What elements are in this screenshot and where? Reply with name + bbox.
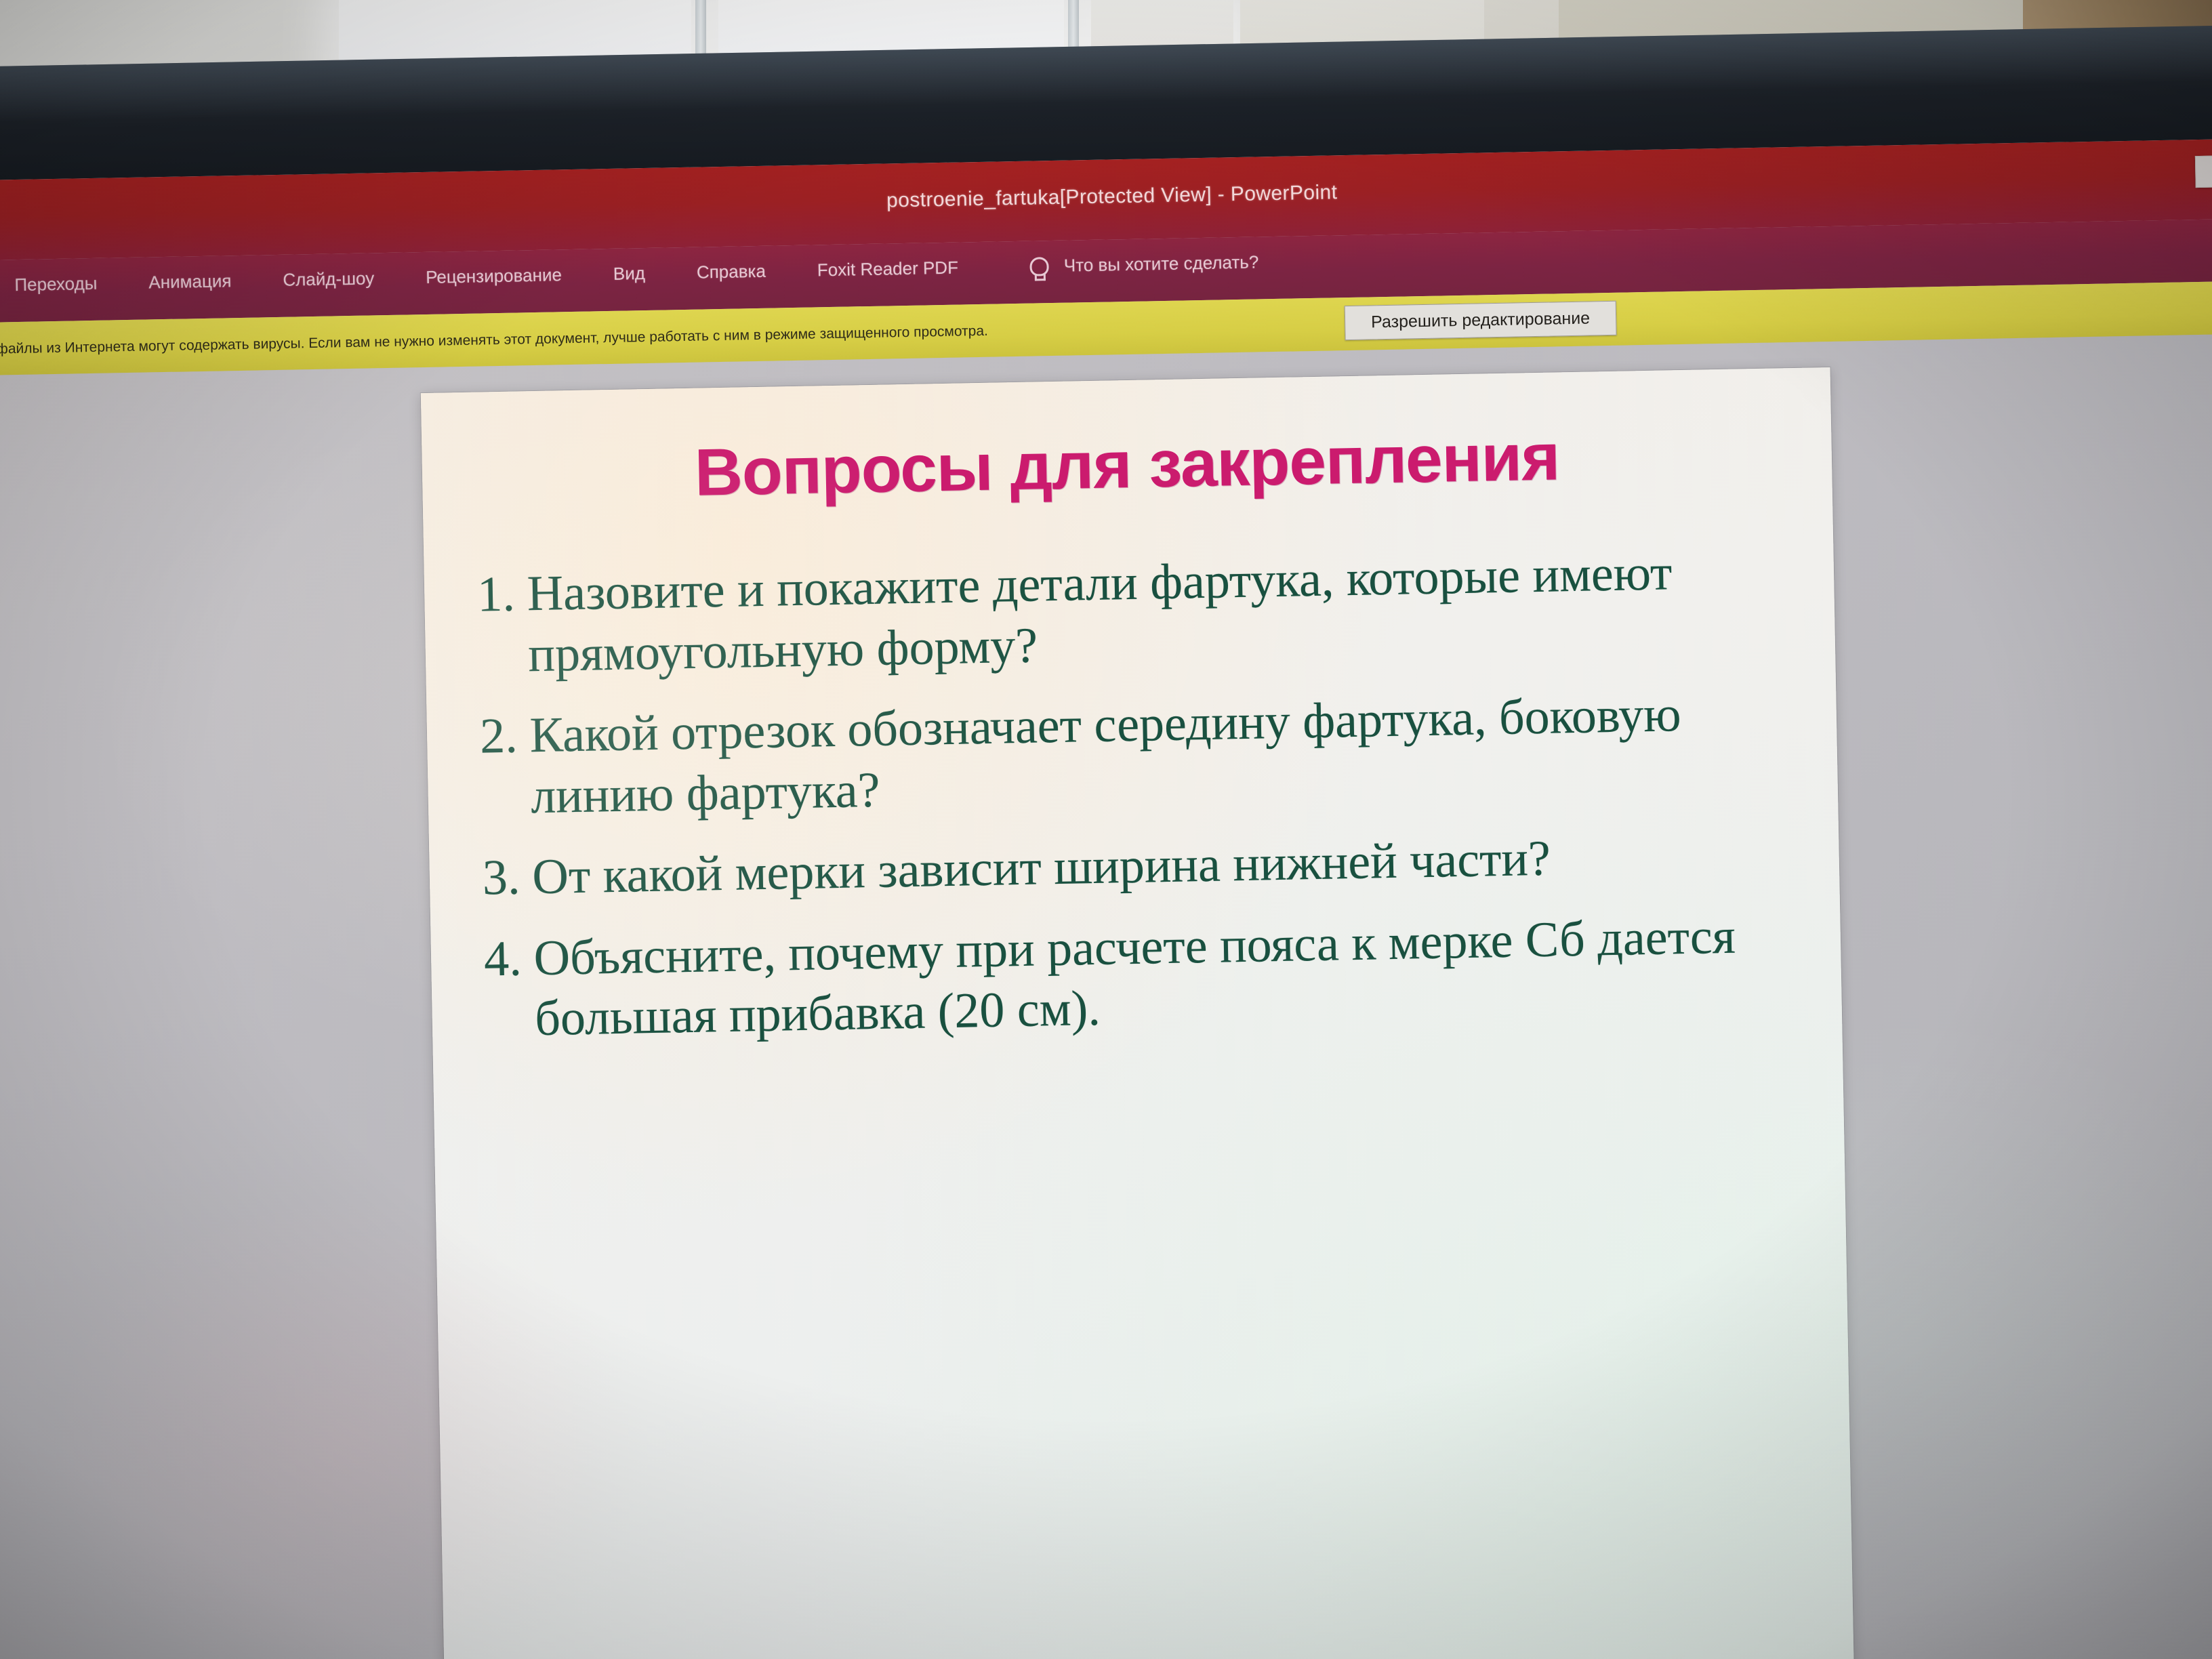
monitor-screen: postroenie_fartuka[Protected View] - Pow… [0, 138, 2212, 1659]
protected-view-message: Осторожно: файлы из Интернета могут соде… [0, 323, 988, 359]
question-number: 4. [483, 928, 522, 990]
tab-slide-show[interactable]: Слайд-шоу [280, 268, 377, 291]
question-text: Какой отрезок обозначает середину фартук… [529, 682, 1808, 827]
question-text: Объясните, почему при расчете пояса к ме… [533, 905, 1812, 1050]
window-title: postroenie_fartuka[Protected View] - Pow… [0, 163, 2212, 230]
enable-editing-button[interactable]: Разрешить редактирование [1345, 301, 1617, 340]
question-number: 1. [477, 565, 516, 626]
list-item: 3. От какой мерки зависит ширина нижней … [482, 824, 1809, 909]
photo-of-monitor: postroenie_fartuka[Protected View] - Pow… [0, 0, 2212, 1659]
tab-spravka[interactable]: Справка [694, 261, 769, 283]
tab-vid[interactable]: Вид [611, 263, 649, 285]
question-number: 3. [482, 848, 520, 909]
ribbon-tabs-row: нструктор Переходы Анимация Слайд-шоу Ре… [0, 251, 1262, 298]
list-item: 1. Назовите и покажите детали фартука, к… [477, 541, 1806, 687]
lightbulb-icon [1030, 257, 1050, 276]
sign-in-button[interactable]: Вход [2195, 155, 2212, 188]
question-number: 2. [479, 706, 518, 768]
tab-foxit-reader-pdf[interactable]: Foxit Reader PDF [815, 257, 962, 281]
tell-me-input[interactable]: Что вы хотите сделать? [1061, 251, 1262, 276]
slide-title: Вопросы для закрепления [422, 413, 1832, 516]
question-text: Назовите и покажите детали фартука, кото… [527, 541, 1805, 686]
slide-canvas[interactable]: Вопросы для закрепления 1. Назовите и по… [421, 367, 1854, 1659]
tab-recenzirovanie[interactable]: Рецензирование [423, 264, 565, 288]
list-item: 4. Объясните, почему при расчете пояса к… [483, 905, 1812, 1050]
tell-me-box[interactable]: Что вы хотите сделать? [1030, 251, 1262, 276]
mouse-pointer-icon [1846, 1139, 1854, 1171]
slide-workspace: Вопросы для закрепления 1. Назовите и по… [0, 333, 2212, 1659]
question-list: 1. Назовите и покажите детали фартука, к… [477, 541, 1813, 1071]
question-text: От какой мерки зависит ширина нижней час… [532, 824, 1810, 908]
tab-perehody[interactable]: Переходы [12, 273, 100, 295]
list-item: 2. Какой отрезок обозначает середину фар… [479, 682, 1808, 828]
tab-animaciya[interactable]: Анимация [146, 270, 234, 293]
